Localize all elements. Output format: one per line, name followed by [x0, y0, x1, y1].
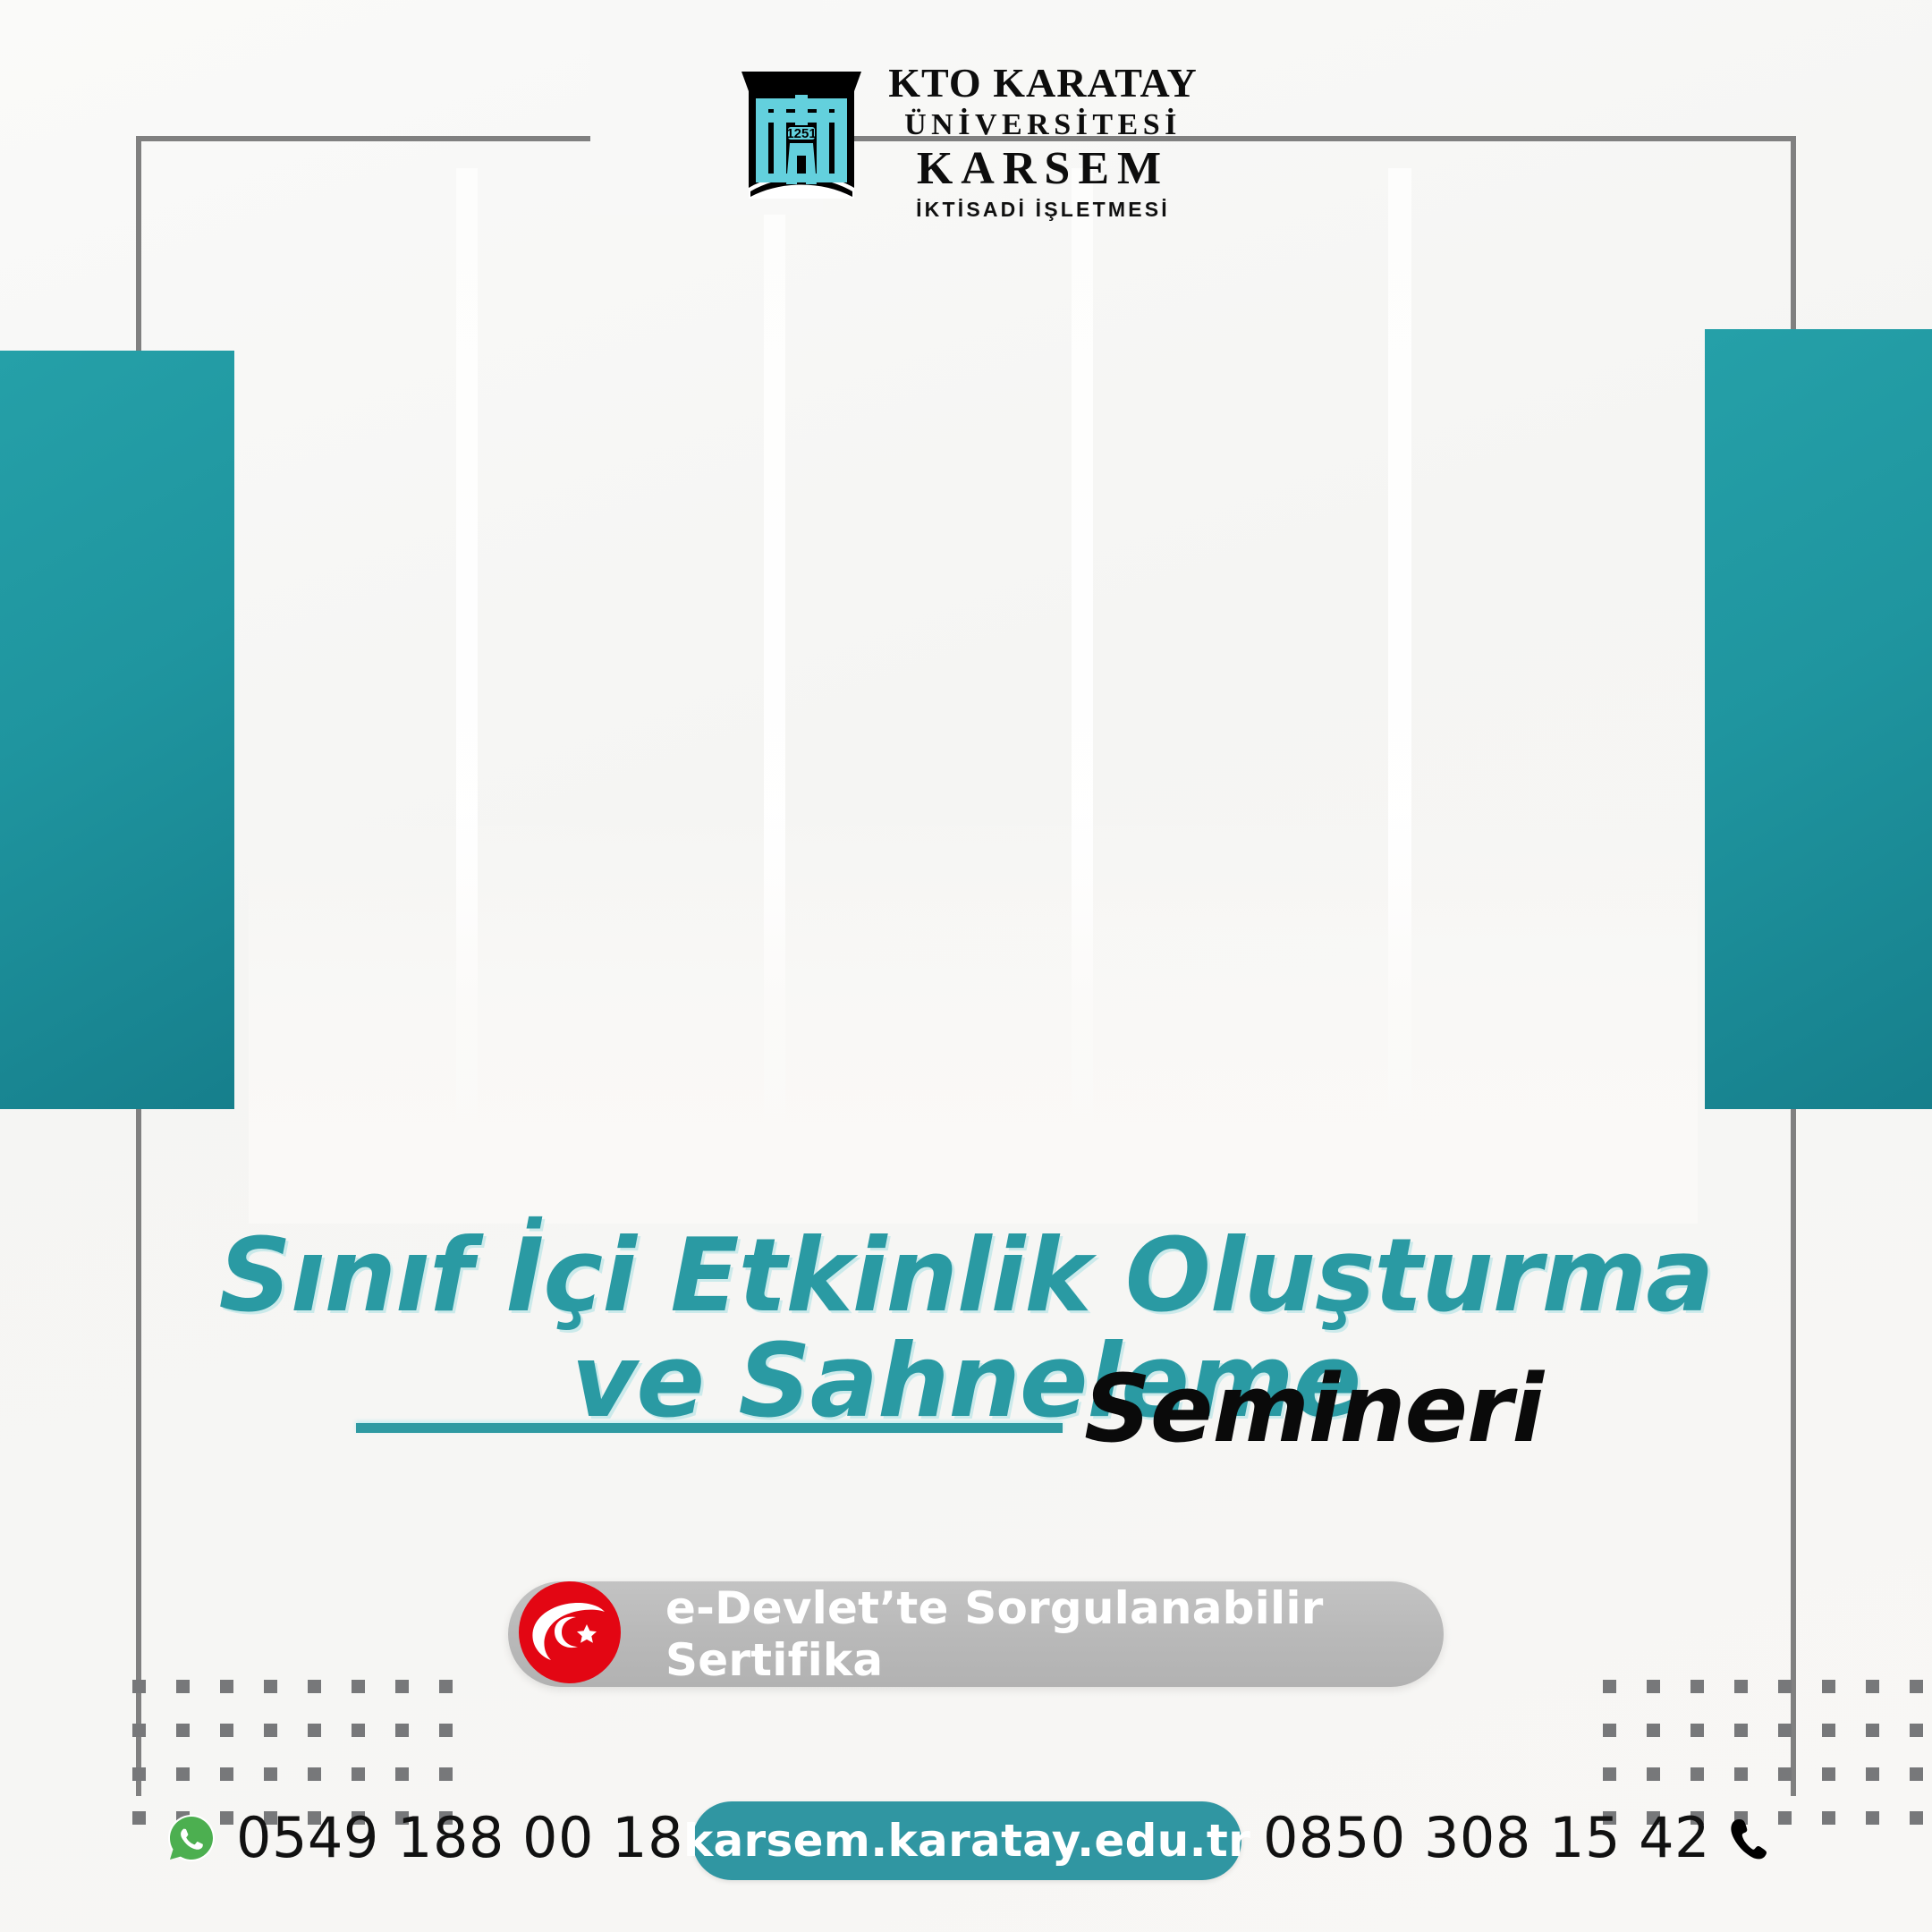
seminar-rule	[356, 1423, 1063, 1433]
brand-line-2: ÜNİVERSİTESİ	[904, 110, 1182, 140]
collage-gap-1	[456, 168, 478, 1224]
website-pill[interactable]: karsem.karatay.edu.tr	[692, 1801, 1241, 1880]
website-url: karsem.karatay.edu.tr	[683, 1815, 1250, 1867]
contact-bar: 0549 188 00 18 karsem.karatay.edu.tr 085…	[0, 1801, 1932, 1909]
seminar-row: Semineri	[0, 1392, 1932, 1463]
teal-panel-left	[0, 351, 234, 1109]
phone-number: 0850 308 15 42	[1263, 1805, 1710, 1870]
collage-gap-4	[1388, 168, 1411, 1224]
headline-line-1: Sınıf İçi Etkinlik Oluşturma	[0, 1224, 1932, 1327]
brand-logo: 1251 KTO KARATAY ÜNİVERSİTESİ KARSEM İKT…	[0, 55, 1932, 220]
phone-icon	[1726, 1815, 1773, 1861]
collage-gap-2	[764, 168, 785, 1224]
brand-line-1: KTO KARATAY	[888, 63, 1197, 104]
whatsapp-icon	[166, 1813, 216, 1863]
edevlet-label: e-Devlet’te Sorgulanabilir Sertifika	[665, 1582, 1444, 1686]
phone-contact[interactable]: 0850 308 15 42	[1263, 1805, 1773, 1870]
poster-canvas: 1251 KTO KARATAY ÜNİVERSİTESİ KARSEM İKT…	[0, 0, 1932, 1932]
whatsapp-contact[interactable]: 0549 188 00 18	[166, 1805, 683, 1870]
teal-panel-right	[1705, 329, 1932, 1109]
photo-collage	[249, 168, 1698, 1224]
whatsapp-number: 0549 188 00 18	[236, 1805, 683, 1870]
brand-line-3: KARSEM	[917, 146, 1169, 192]
edevlet-badge[interactable]: e-Devlet’te Sorgulanabilir Sertifika	[508, 1581, 1444, 1687]
svg-text:1251: 1251	[787, 126, 817, 141]
seminar-suffix: Semineri	[1084, 1354, 1543, 1463]
brand-line-4: İKTİSADİ İŞLETMESİ	[916, 199, 1170, 220]
collage-gap-3	[1072, 168, 1093, 1224]
karatay-gate-icon: 1251	[734, 55, 869, 199]
edevlet-turkey-icon	[513, 1576, 626, 1689]
